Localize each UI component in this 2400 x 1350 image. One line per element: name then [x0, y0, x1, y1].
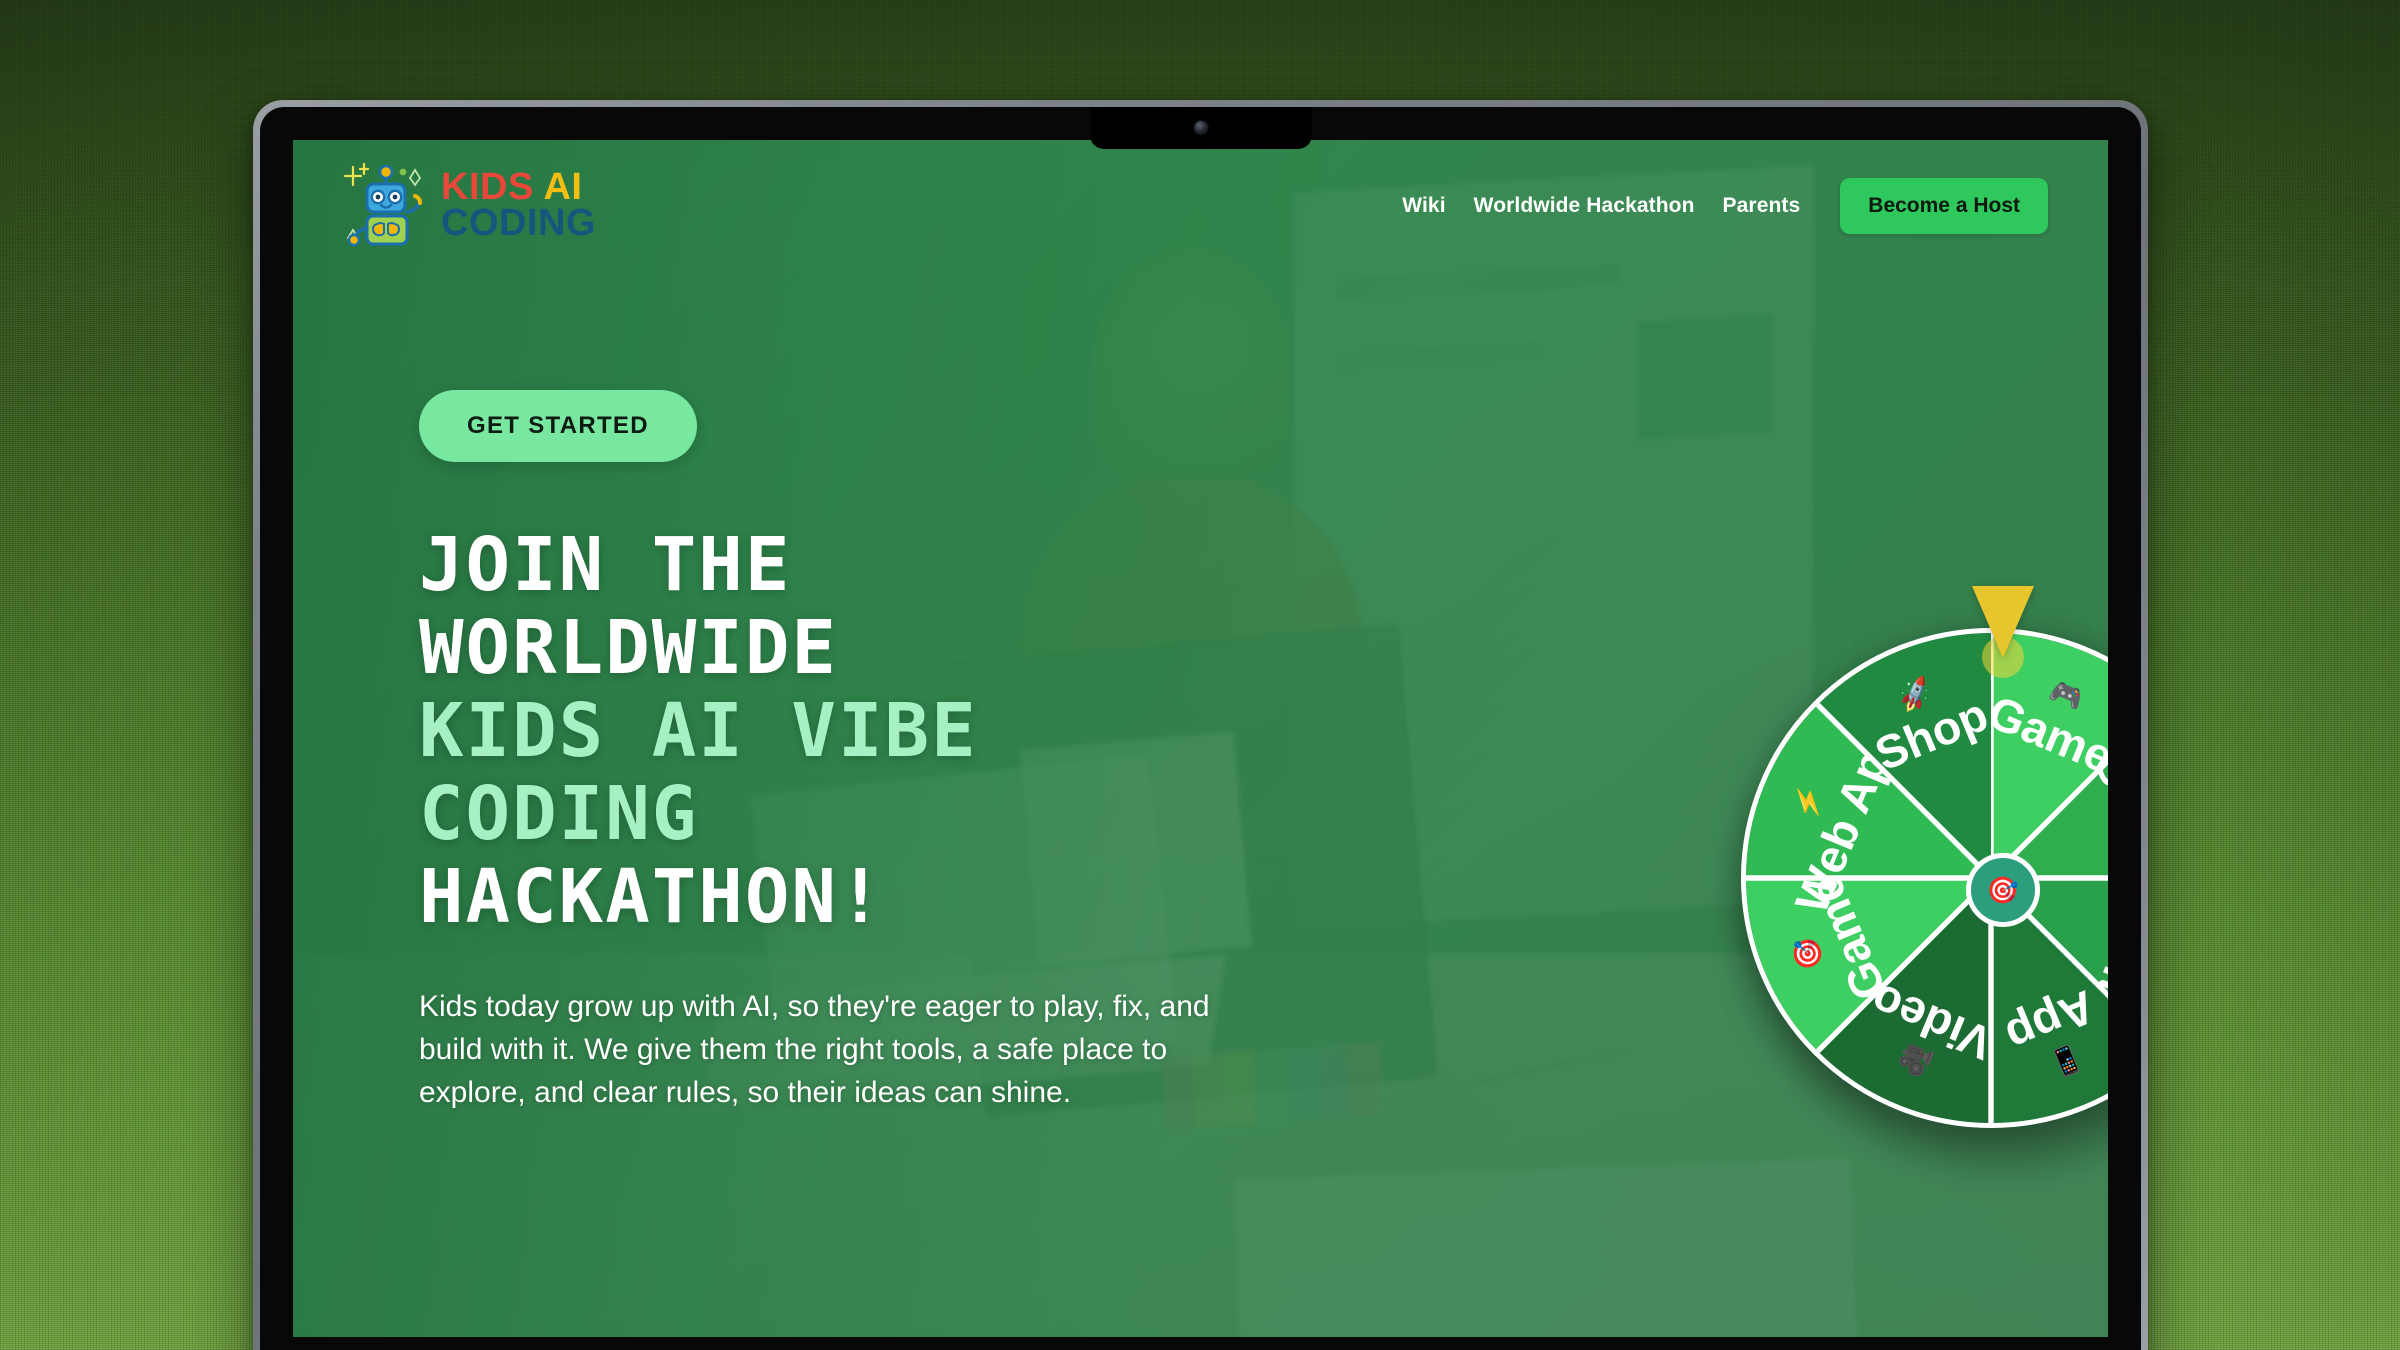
- hero-headline: JOIN THE WORLDWIDE KIDS AI VIBE CODING H…: [419, 524, 1239, 938]
- hero-content: GET STARTED JOIN THE WORLDWIDE KIDS AI V…: [419, 390, 1239, 1114]
- headline-line-1: JOIN THE: [419, 524, 1239, 607]
- headline-line-4: CODING: [419, 773, 1239, 856]
- site-header: KIDS AI CODING Wiki Worldwide Hackathon …: [293, 140, 2108, 272]
- wheel-pointer-icon: [1968, 586, 2038, 676]
- nav-item-parents[interactable]: Parents: [1723, 194, 1801, 218]
- website-screen: KIDS AI CODING Wiki Worldwide Hackathon …: [293, 140, 2108, 1337]
- headline-line-5: HACKATHON!: [419, 856, 1239, 939]
- logo-wordmark: KIDS AI CODING: [441, 170, 596, 241]
- logo-coding-text: CODING: [441, 202, 596, 244]
- laptop-bezel: KIDS AI CODING Wiki Worldwide Hackathon …: [260, 107, 2141, 1350]
- hero-paragraph: Kids today grow up with AI, so they're e…: [419, 986, 1219, 1114]
- main-navigation: Wiki Worldwide Hackathon Parents Become …: [1402, 178, 2048, 234]
- headline-line-3: KIDS AI VIBE: [419, 690, 1239, 773]
- dartboard-icon: 🎯: [1987, 875, 2019, 906]
- become-a-host-button[interactable]: Become a Host: [1840, 178, 2048, 234]
- wheel-hub[interactable]: 🎯: [1966, 853, 2040, 927]
- site-logo[interactable]: KIDS AI CODING: [343, 160, 596, 252]
- spin-wheel[interactable]: Game🎮Social💻Website🌐App📱Video🎥Game🎯Web A…: [1723, 610, 2108, 1170]
- laptop-notch: [1090, 107, 1312, 149]
- nav-item-wiki[interactable]: Wiki: [1402, 194, 1445, 218]
- get-started-button[interactable]: GET STARTED: [419, 390, 697, 462]
- webcam-icon: [1194, 121, 1207, 134]
- laptop-lid: KIDS AI CODING Wiki Worldwide Hackathon …: [253, 100, 2148, 1350]
- nav-item-worldwide-hackathon[interactable]: Worldwide Hackathon: [1474, 194, 1695, 218]
- robot-mascot-icon: [343, 160, 429, 252]
- laptop-mockup: KIDS AI CODING Wiki Worldwide Hackathon …: [253, 100, 2148, 1350]
- headline-line-2: WORLDWIDE: [419, 607, 1239, 690]
